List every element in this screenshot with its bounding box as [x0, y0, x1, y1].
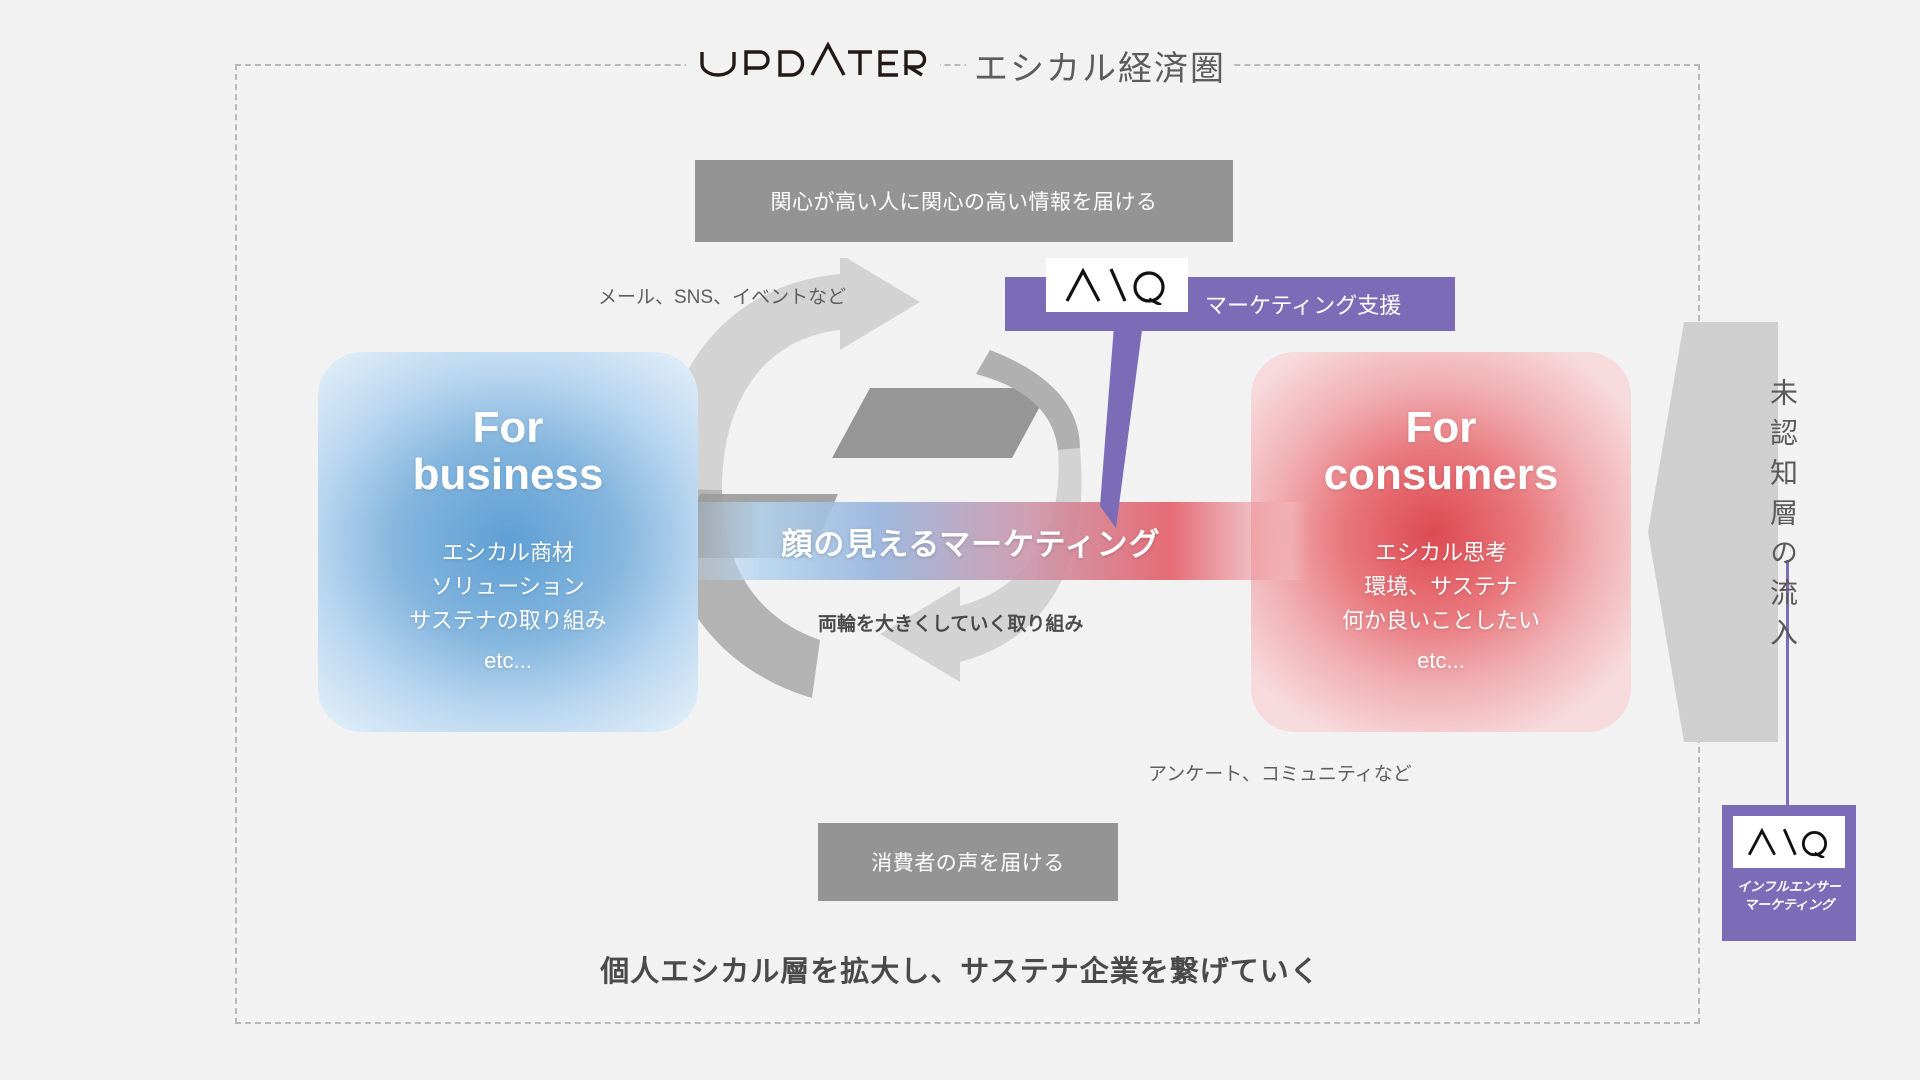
for-consumers-headline-line2: consumers	[1324, 451, 1559, 498]
aiq-logo-chip	[1046, 258, 1188, 312]
for-business-item: ソリューション	[409, 570, 607, 604]
annotation-wheel: 両輪を大きくしていく取り組み	[818, 609, 1083, 636]
for-business-headline-line1: For	[413, 404, 604, 451]
influencer-label: インフルエンサー マーケティング	[1737, 878, 1841, 913]
top-message-box: 関心が高い人に関心の高い情報を届ける	[695, 160, 1233, 242]
for-consumers-item: エシカル思考	[1342, 536, 1540, 570]
for-business-item: エシカル商材	[409, 536, 607, 570]
influx-label: 未認知層の流入	[1758, 378, 1802, 658]
footer-label: 個人エシカル層を拡大し、サステナ企業を繋げていく	[600, 948, 1319, 990]
aiq-logo	[1746, 826, 1832, 858]
for-business-item: サステナの取り組み	[409, 604, 607, 638]
diagram-canvas: エシカル経済圏 顔の見えるマーケティング 関心が高い人に関心の高い	[0, 0, 1920, 1080]
for-business-etc: etc...	[409, 644, 607, 678]
for-business-items: エシカル商材 ソリューション サステナの取り組み etc...	[409, 536, 607, 678]
center-gradient-band: 顔の見えるマーケティング	[672, 502, 1310, 580]
updater-logo	[686, 40, 940, 90]
for-consumers-headline-line1: For	[1324, 404, 1559, 451]
for-consumers-item: 環境、サステナ	[1342, 570, 1540, 604]
bottom-message-box: 消費者の声を届ける	[818, 823, 1118, 901]
influencer-label-line2: マーケティング	[1737, 896, 1841, 914]
influencer-aiq-chip	[1733, 816, 1845, 868]
top-message-label: 関心が高い人に関心の高い情報を届ける	[771, 186, 1158, 216]
marketing-support-label: マーケティング支援	[1205, 288, 1401, 320]
for-consumers-items: エシカル思考 環境、サステナ 何か良いことしたい etc...	[1342, 536, 1540, 678]
for-business-headline-line2: business	[413, 451, 604, 498]
page-title: エシカル経済圏	[966, 41, 1234, 90]
diagram-header: エシカル経済圏	[0, 40, 1920, 90]
for-consumers-etc: etc...	[1342, 644, 1540, 678]
annotation-inbound: アンケート、コミュニティなど	[1148, 759, 1412, 786]
aiq-logo	[1063, 265, 1171, 305]
for-business-card: For business エシカル商材 ソリューション サステナの取り組み et…	[318, 352, 698, 732]
influencer-label-line1: インフルエンサー	[1737, 878, 1841, 896]
influencer-marketing-box: インフルエンサー マーケティング	[1722, 805, 1856, 941]
for-consumers-headline: For consumers	[1324, 404, 1559, 498]
for-consumers-item: 何か良いことしたい	[1342, 604, 1540, 638]
bottom-message-label: 消費者の声を届ける	[871, 847, 1065, 877]
annotation-outbound: メール、SNS、イベントなど	[598, 282, 846, 309]
footer-message: 個人エシカル層を拡大し、サステナ企業を繋げていく	[0, 948, 1920, 990]
marketing-callout-pointer	[1060, 300, 1200, 530]
for-business-headline: For business	[413, 404, 604, 498]
